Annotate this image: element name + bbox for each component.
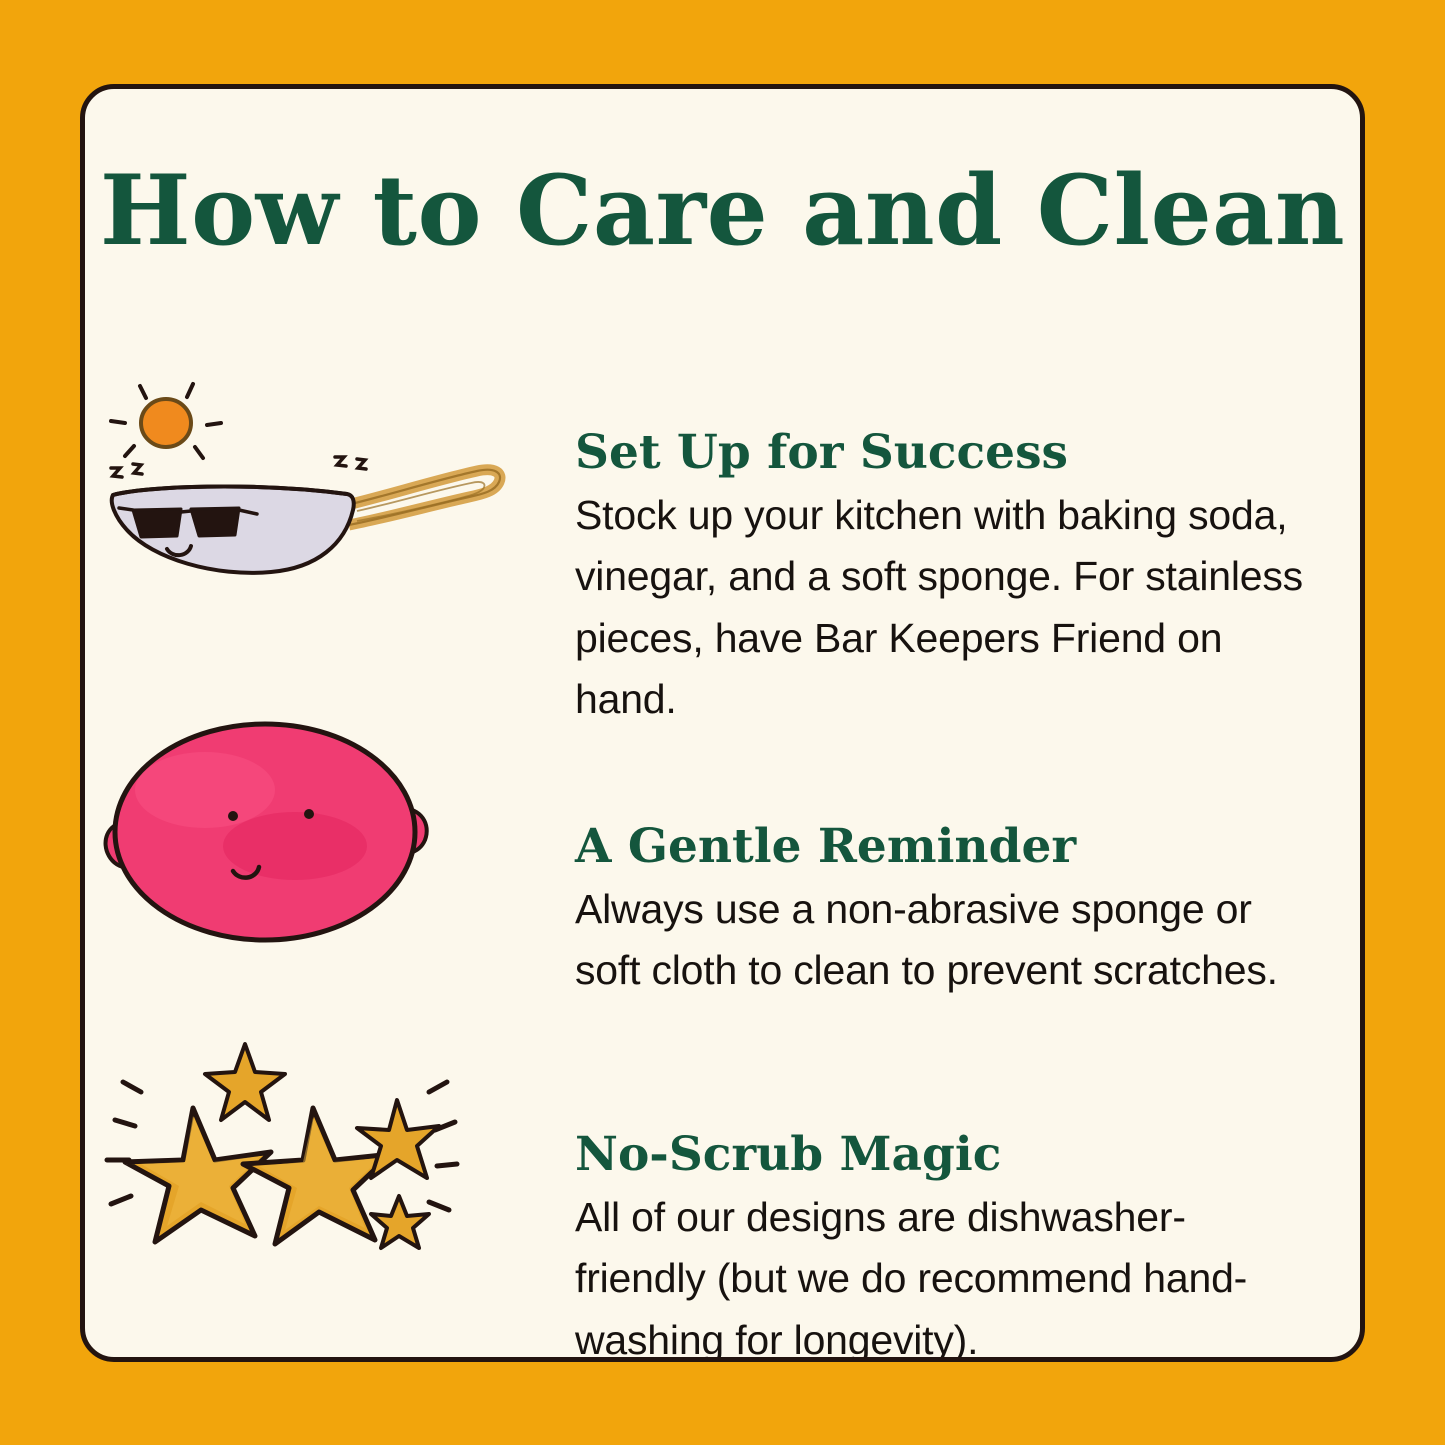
page-title: How to Care and Clean [85, 163, 1360, 259]
section-copy: No-Scrub Magic All of our designs are di… [575, 1020, 1360, 1362]
frying-pan-with-sunglasses-and-sun-icon [85, 344, 575, 680]
section-body: Always use a non-abrasive sponge or soft… [575, 879, 1315, 1001]
section-set-up-for-success: Set Up for Success Stock up your kitchen… [85, 344, 1360, 704]
section-body: All of our designs are dishwasher-friend… [575, 1187, 1315, 1362]
section-copy: A Gentle Reminder Always use a non-abras… [575, 704, 1360, 1002]
page-title-text: How to Care and Clean [100, 154, 1345, 267]
section-a-gentle-reminder: A Gentle Reminder Always use a non-abras… [85, 704, 1360, 1020]
section-body: Stock up your kitchen with baking soda, … [575, 485, 1315, 729]
section-heading: Set Up for Success [575, 428, 1320, 477]
section-heading: A Gentle Reminder [575, 822, 1320, 871]
sections-list: Set Up for Success Stock up your kitchen… [85, 344, 1360, 1360]
poster-root: How to Care and Clean [0, 0, 1445, 1445]
section-copy: Set Up for Success Stock up your kitchen… [575, 344, 1360, 730]
pink-oval-dish-with-face-icon [85, 704, 575, 1040]
section-heading: No-Scrub Magic [575, 1130, 1320, 1179]
care-card: How to Care and Clean [80, 84, 1365, 1362]
sparkle-stars-icon [85, 1020, 575, 1356]
section-no-scrub-magic: No-Scrub Magic All of our designs are di… [85, 1020, 1360, 1360]
